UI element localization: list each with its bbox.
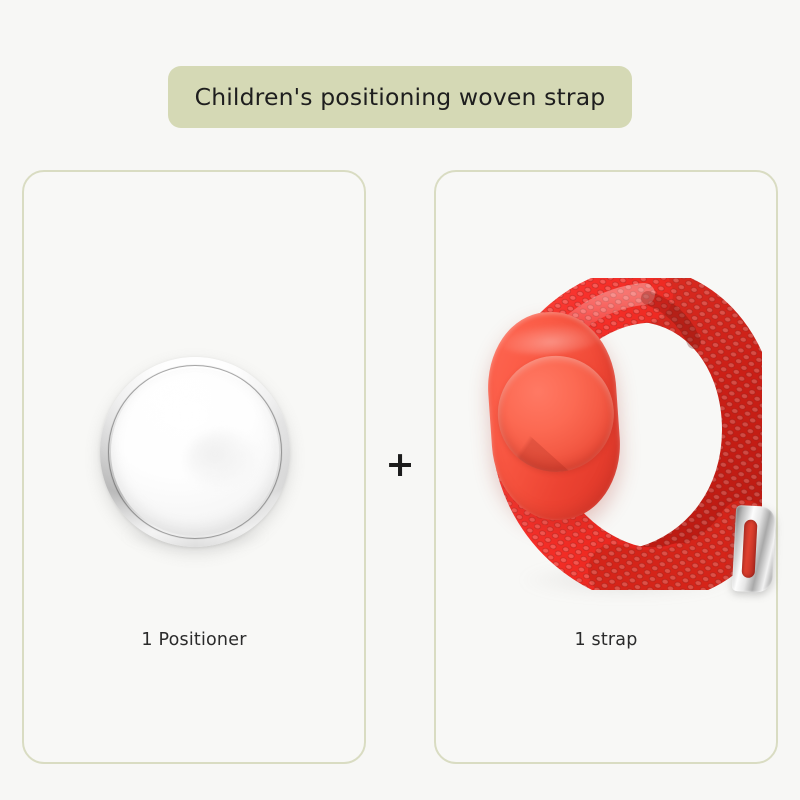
- strap-caption: 1 strap: [436, 630, 776, 650]
- strap-buckle-slot: [741, 519, 757, 578]
- positioner-stage: [24, 172, 364, 622]
- strap-stage: [436, 172, 776, 622]
- positioner-tracker-image: [100, 357, 290, 547]
- positioner-caption: 1 Positioner: [24, 630, 364, 650]
- woven-strap-image: [480, 272, 780, 617]
- strap-metal-buckle: [732, 505, 776, 593]
- page-title: Children's positioning woven strap: [195, 83, 606, 111]
- product-card-strap[interactable]: 1 strap: [434, 170, 778, 764]
- strap-case-highlight: [498, 320, 604, 357]
- plus-icon: +: [382, 444, 418, 486]
- positioner-dome-shading: [186, 431, 258, 489]
- product-card-positioner[interactable]: 1 Positioner: [22, 170, 366, 764]
- title-banner: Children's positioning woven strap: [168, 66, 632, 128]
- strap-tracker-cavity: [494, 352, 618, 476]
